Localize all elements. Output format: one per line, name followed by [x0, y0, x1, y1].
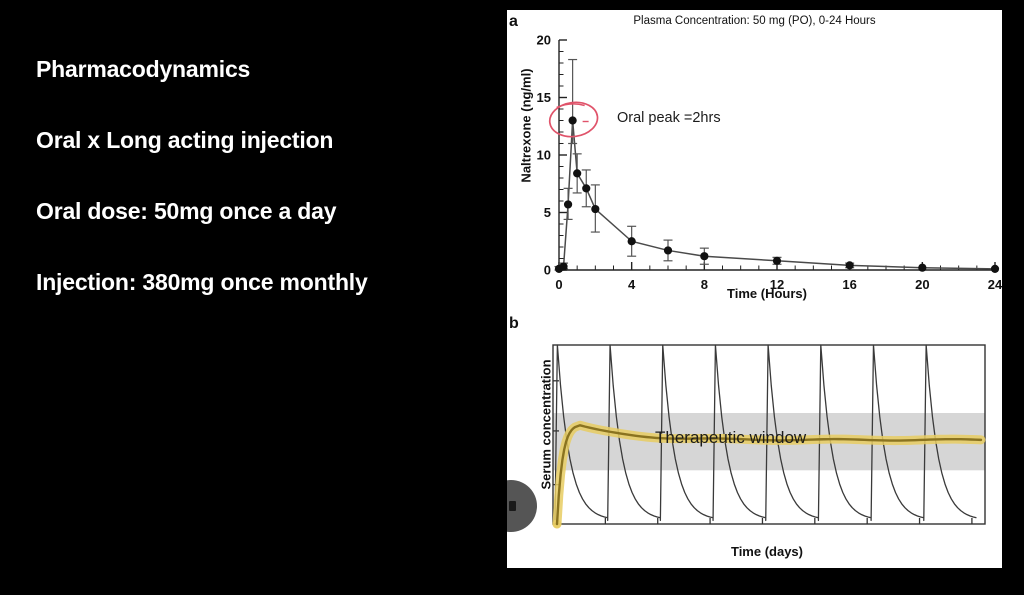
panel-b-serum-concentration-chart: Serum concentration Time (days) Therapeu… — [507, 312, 1002, 568]
panel-a-ytick-5: 5 — [544, 205, 551, 220]
slide-root: Pharmacodynamics Oral x Long acting inje… — [0, 0, 1024, 595]
slide-line-route: Oral x Long acting injection — [36, 129, 496, 152]
slide-line-oral-dose: Oral dose: 50mg once a day — [36, 200, 496, 223]
therapeutic-window-label: Therapeutic window — [655, 428, 806, 448]
panel-a-xtick-8: 8 — [701, 277, 708, 292]
panel-a-xtick-20: 20 — [915, 277, 929, 292]
panel-a-xtick-12: 12 — [770, 277, 784, 292]
slide-line-title: Pharmacodynamics — [36, 58, 496, 81]
panel-a-ytick-20: 20 — [537, 33, 551, 48]
panel-a-xtick-16: 16 — [842, 277, 856, 292]
panel-a-xtick-4: 4 — [628, 277, 636, 292]
figure-image: a b Plasma Concentration: 50 mg (PO), 0-… — [507, 10, 1002, 568]
oral-peak-annotation-text: Oral peak =2hrs — [617, 110, 721, 126]
panel-a-ytick-15: 15 — [537, 90, 551, 105]
slide-text-block: Pharmacodynamics Oral x Long acting inje… — [36, 58, 496, 294]
panel-a-xtick-24: 24 — [988, 277, 1002, 292]
panel-a-svg: 0510152004812162024 — [507, 10, 1002, 312]
panel-a-ytick-10: 10 — [537, 148, 551, 163]
panel-a-xtick-0: 0 — [555, 277, 562, 292]
panel-a-plasma-concentration-chart: Plasma Concentration: 50 mg (PO), 0-24 H… — [507, 10, 1002, 312]
slide-line-injection-dose: Injection: 380mg once monthly — [36, 271, 496, 294]
edge-artifact-bar — [509, 501, 516, 511]
panel-a-ytick-0: 0 — [544, 263, 551, 278]
